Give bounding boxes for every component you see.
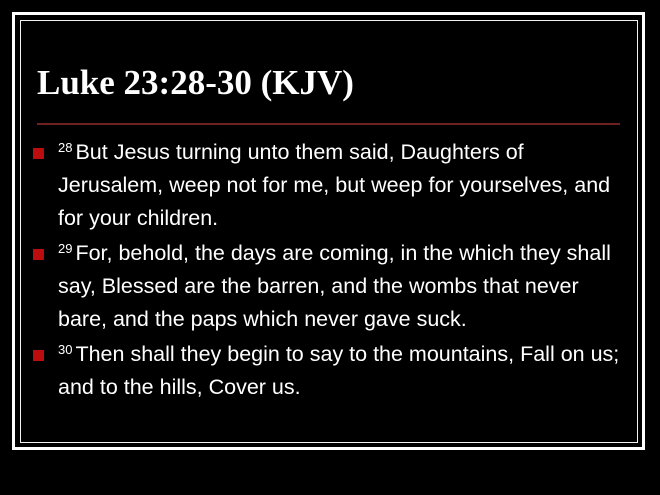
verse-number: 30 (58, 342, 75, 357)
verse-number: 28 (58, 140, 75, 155)
verse-text: Then shall they begin to say to the moun… (58, 342, 619, 399)
verse-list: 28But Jesus turning unto them said, Daug… (30, 136, 630, 406)
title-divider-rule (37, 123, 620, 125)
bullet-square-icon (33, 148, 44, 159)
verse-item: 29For, behold, the days are coming, in t… (30, 237, 630, 336)
verse-text: But Jesus turning unto them said, Daught… (58, 140, 610, 230)
verse-number: 29 (58, 241, 75, 256)
bullet-square-icon (33, 249, 44, 260)
bullet-square-icon (33, 350, 44, 361)
presentation-slide: Luke 23:28-30 (KJV) 28But Jesus turning … (0, 0, 660, 495)
verse-text: For, behold, the days are coming, in the… (58, 241, 611, 331)
slide-title: Luke 23:28-30 (KJV) (37, 62, 617, 104)
verse-item: 30Then shall they begin to say to the mo… (30, 338, 630, 404)
verse-item: 28But Jesus turning unto them said, Daug… (30, 136, 630, 235)
title-block: Luke 23:28-30 (KJV) (37, 62, 617, 104)
